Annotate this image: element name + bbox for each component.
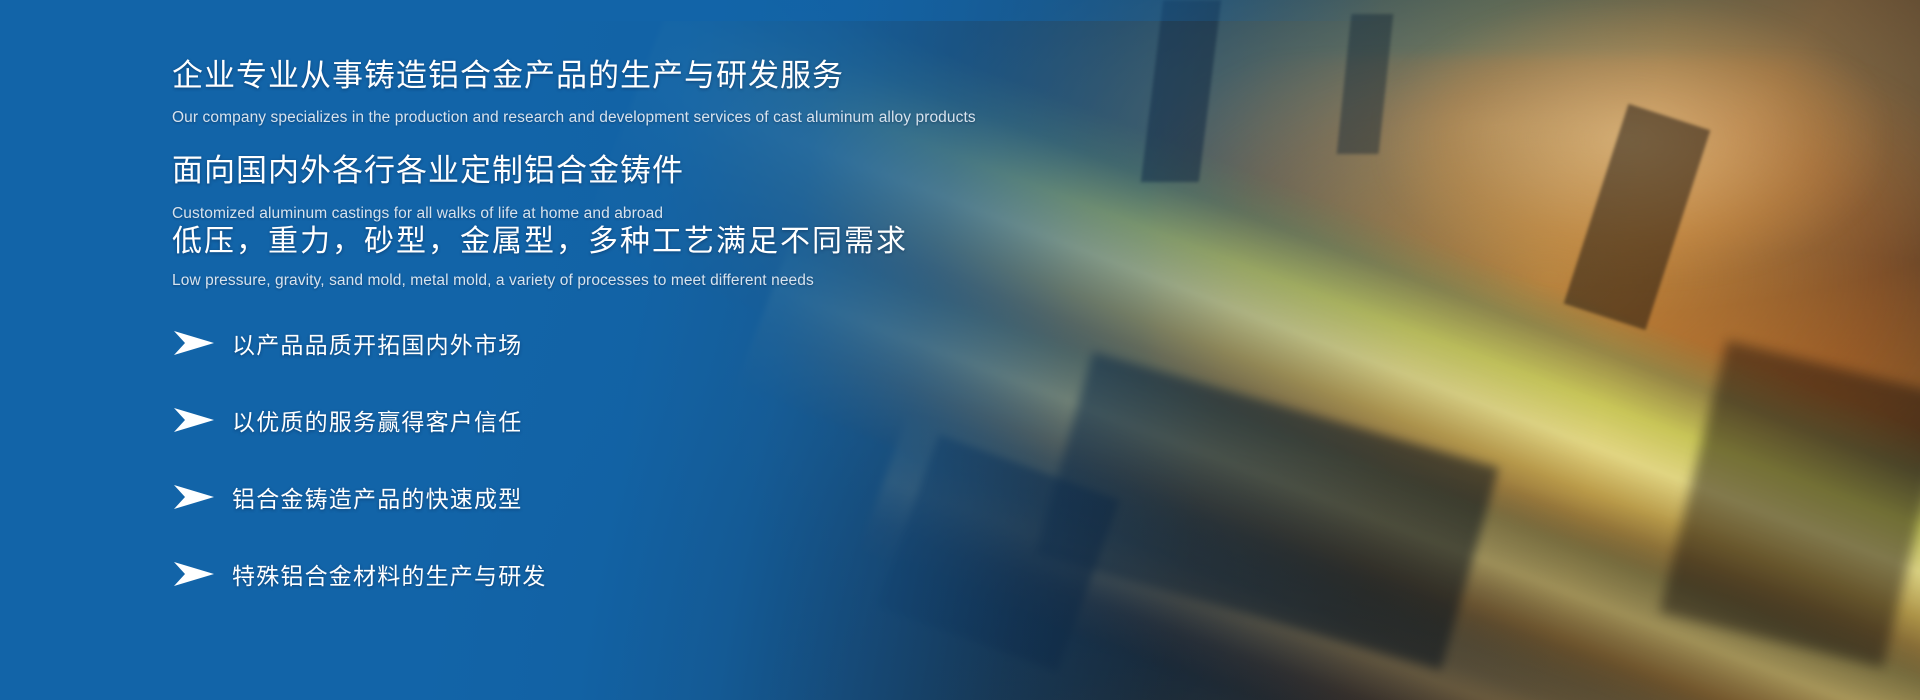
arrow-right-icon — [172, 484, 216, 510]
list-item: 铝合金铸造产品的快速成型 — [172, 470, 547, 524]
list-item: 以优质的服务赢得客户信任 — [172, 393, 547, 447]
headline-1-cn: 企业专业从事铸造铝合金产品的生产与研发服务 — [172, 50, 976, 95]
headline-3-en: Low pressure, gravity, sand mold, metal … — [172, 272, 908, 290]
list-item-label: 以产品品质开拓国内外市场 — [232, 326, 522, 360]
list-item: 以产品品质开拓国内外市场 — [172, 316, 547, 370]
feature-list: 以产品品质开拓国内外市场 以优质的服务赢得客户信任 铝合金铸造产品的快速成型 特… — [172, 316, 547, 601]
list-item-label: 特殊铝合金材料的生产与研发 — [232, 557, 547, 591]
hero-banner: 企业专业从事铸造铝合金产品的生产与研发服务 Our company specia… — [0, 0, 1920, 700]
arrow-right-icon — [172, 407, 216, 433]
headline-block-2: 面向国内外各行各业定制铝合金铸件 Customized aluminum cas… — [172, 145, 684, 223]
list-item-label: 铝合金铸造产品的快速成型 — [232, 480, 522, 514]
banner-content: 企业专业从事铸造铝合金产品的生产与研发服务 Our company specia… — [172, 0, 1272, 700]
arrow-right-icon — [172, 330, 216, 356]
list-item: 特殊铝合金材料的生产与研发 — [172, 547, 547, 601]
headline-2-cn: 面向国内外各行各业定制铝合金铸件 — [172, 145, 684, 190]
headline-1-en: Our company specializes in the productio… — [172, 109, 976, 127]
headline-block-1: 企业专业从事铸造铝合金产品的生产与研发服务 Our company specia… — [172, 50, 976, 127]
arrow-right-icon — [172, 561, 216, 587]
headline-3-cn: 低压，重力，砂型，金属型，多种工艺满足不同需求 — [172, 216, 908, 260]
headline-block-3: 低压，重力，砂型，金属型，多种工艺满足不同需求 Low pressure, gr… — [172, 216, 908, 290]
list-item-label: 以优质的服务赢得客户信任 — [232, 403, 522, 437]
